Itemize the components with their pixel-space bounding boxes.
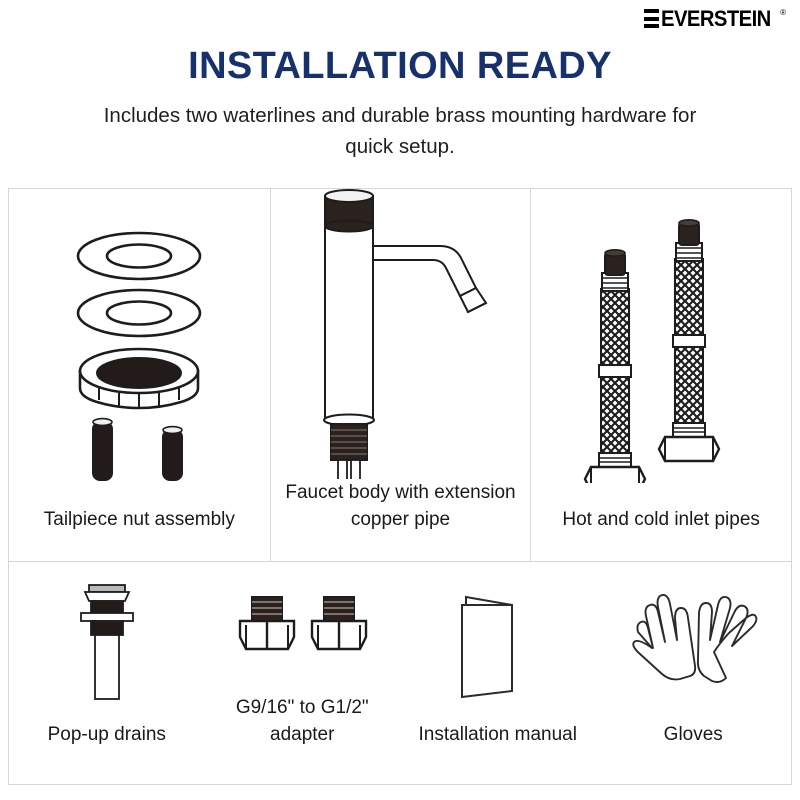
thread-adapter-icon [205, 562, 401, 694]
part-caption: Hot and cold inlet pipes [556, 506, 766, 533]
part-caption: Tailpiece nut assembly [38, 506, 241, 533]
parts-row-top: Tailpiece nut assembly [9, 189, 791, 562]
part-caption: G9/16" to G1/2" adapter [205, 694, 401, 748]
brand-name: EVERSTEIN [661, 8, 771, 29]
part-caption: Faucet body with extension copper pipe [271, 479, 531, 533]
part-cell-pop-up-drains: Pop-up drains [9, 562, 205, 784]
parts-grid: Tailpiece nut assembly [8, 188, 792, 785]
part-cell-installation-manual: Installation manual [400, 562, 596, 784]
part-cell-tailpiece-nut-assembly: Tailpiece nut assembly [9, 189, 270, 561]
brand-logo: EVERSTEIN ® [644, 8, 786, 32]
part-caption: Gloves [658, 721, 729, 748]
part-caption: Pop-up drains [42, 721, 172, 748]
registered-trademark-symbol: ® [780, 8, 786, 18]
tailpiece-nut-assembly-icon [9, 189, 270, 506]
part-caption: Installation manual [413, 721, 583, 748]
part-cell-thread-adapter: G9/16" to G1/2" adapter [205, 562, 401, 784]
part-cell-gloves: Gloves [596, 562, 792, 784]
part-cell-faucet-body: Faucet body with extension copper pipe [270, 189, 531, 561]
gloves-icon [596, 562, 792, 721]
installation-manual-icon [400, 562, 596, 721]
everstein-logo-icon [644, 9, 659, 28]
part-cell-inlet-pipes: Hot and cold inlet pipes [530, 189, 791, 561]
parts-row-bottom: Pop-up drains [9, 562, 791, 784]
page-title: INSTALLATION READY [0, 44, 800, 88]
faucet-body-icon [271, 189, 531, 479]
pop-up-drain-icon [9, 562, 205, 721]
page-subtitle: Includes two waterlines and durable bras… [100, 100, 700, 162]
inlet-hoses-icon [531, 189, 791, 506]
